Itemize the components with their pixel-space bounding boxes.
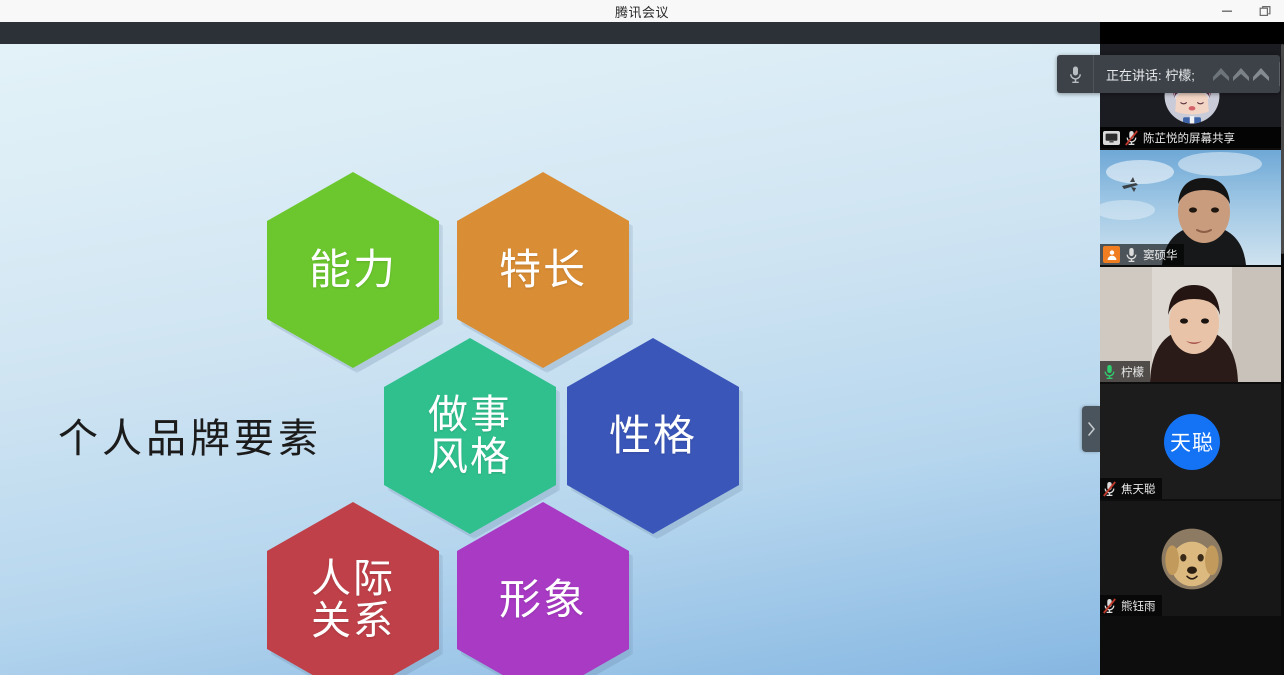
microphone-icon [1103, 364, 1116, 380]
restore-button[interactable] [1246, 0, 1284, 22]
participant-namebar: 陈芷悦的屏幕共享 [1100, 127, 1284, 148]
slide-hexagon-5: 人际 关系 [267, 502, 439, 675]
participant-mic-status[interactable] [1103, 364, 1116, 379]
participant-name: 熊钰雨 [1121, 598, 1156, 614]
shared-screen-area[interactable]: 能力特长做事 风格性格人际 关系形象 个人品牌要素 [0, 44, 1100, 675]
hexagon-label: 形象 [499, 578, 587, 623]
participant-mic-status[interactable] [1125, 130, 1138, 145]
person-icon [1106, 249, 1118, 261]
participant-tile[interactable]: 天聪 焦天聪 [1100, 384, 1284, 499]
roster-top-strip [1100, 22, 1284, 44]
participant-mic-status[interactable] [1103, 598, 1116, 613]
participant-tile[interactable]: 柠檬 [1100, 267, 1284, 382]
hexagon-label: 能力 [309, 248, 397, 293]
audio-wave-indicator [1205, 63, 1275, 85]
host-badge [1103, 246, 1120, 263]
audio-wave-icon [1211, 63, 1269, 85]
participant-roster[interactable]: 陈芷悦的屏幕共享 [1100, 44, 1284, 675]
participant-name: 窦硕华 [1143, 247, 1178, 263]
hexagon-label: 性格 [609, 414, 697, 459]
participant-namebar: 焦天聪 [1100, 478, 1162, 499]
chevron-right-icon [1087, 422, 1096, 436]
tencent-meeting-window: 腾讯会议 能力特长做事 风格性格人际 关系形象 个人品牌要素 [0, 0, 1284, 675]
hexagon-label: 人际 关系 [311, 558, 395, 643]
participant-namebar: 柠檬 [1100, 361, 1150, 382]
speaking-indicator: 正在讲话: 柠檬; [1057, 55, 1280, 93]
participant-mic-status[interactable] [1125, 247, 1138, 262]
participant-name: 焦天聪 [1121, 481, 1156, 497]
window-controls [1208, 0, 1284, 22]
participant-tile[interactable]: 熊钰雨 [1100, 501, 1284, 616]
participant-namebar: 熊钰雨 [1100, 595, 1162, 616]
minimize-icon [1221, 5, 1233, 17]
microphone-muted-icon [1125, 130, 1138, 146]
speaking-divider [1279, 62, 1280, 86]
screen-share-icon [1105, 133, 1118, 143]
window-titlebar: 腾讯会议 [0, 0, 1284, 23]
hexagon-label: 特长 [499, 248, 587, 293]
participant-name: 陈芷悦的屏幕共享 [1143, 130, 1235, 146]
dog-avatar-image [1161, 528, 1223, 590]
speaking-mic-button[interactable] [1057, 55, 1094, 93]
avatar-circle: 天聪 [1164, 414, 1220, 470]
microphone-muted-icon [1103, 598, 1116, 614]
screen-share-badge [1103, 131, 1120, 145]
microphone-icon [1068, 65, 1083, 84]
window-title: 腾讯会议 [615, 2, 669, 21]
avatar-initials: 天聪 [1170, 427, 1214, 457]
share-toolbar-strip [0, 22, 1100, 44]
speaking-label: 正在讲话: 柠檬; [1094, 65, 1205, 84]
participant-tile[interactable]: 窦硕华 [1100, 150, 1284, 265]
participant-name: 柠檬 [1121, 364, 1144, 380]
participant-mic-status[interactable] [1103, 481, 1116, 496]
collapse-roster-button[interactable] [1082, 406, 1100, 452]
hexagon-label: 做事 风格 [428, 394, 512, 479]
microphone-muted-icon [1103, 481, 1116, 497]
minimize-button[interactable] [1208, 0, 1246, 22]
slide-title: 个人品牌要素 [58, 406, 322, 464]
microphone-icon [1125, 247, 1138, 263]
participant-namebar: 窦硕华 [1100, 244, 1184, 265]
restore-icon [1259, 5, 1272, 18]
